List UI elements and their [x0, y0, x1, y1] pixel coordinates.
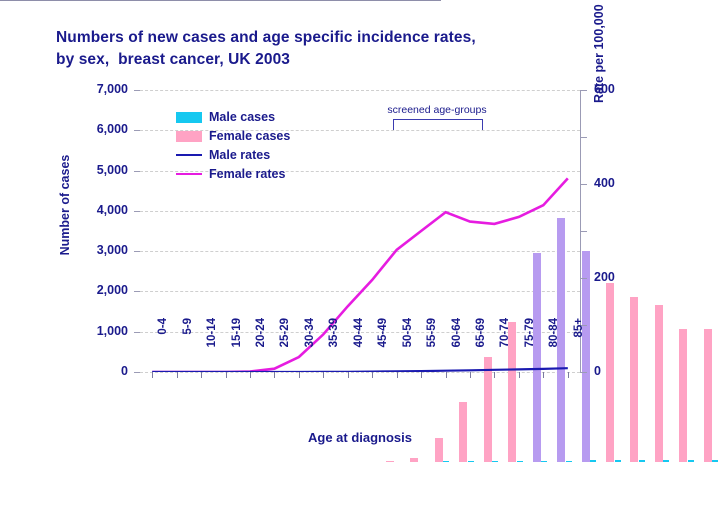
- y-axis-left-tick: [134, 332, 140, 333]
- legend-item-label: Male rates: [209, 148, 270, 162]
- x-axis-tick-label: 70-74: [499, 318, 511, 378]
- x-axis-tick-label: 15-19: [231, 318, 243, 378]
- y-axis-right-minor-tick: [581, 137, 587, 138]
- y-axis-right-tick-label: 0: [594, 364, 654, 378]
- y-axis-left-tick-label: 7,000: [62, 82, 128, 96]
- y-axis-right-tick: [581, 278, 587, 279]
- x-axis-tick-label: 25-29: [279, 318, 291, 378]
- x-axis-tick: [568, 372, 569, 378]
- y-axis-left-tick: [134, 130, 140, 131]
- legend-line-icon: [176, 154, 202, 156]
- y-axis-right-tick: [581, 90, 587, 91]
- x-axis-tick: [421, 372, 422, 378]
- legend-item[interactable]: Female cases: [176, 127, 290, 145]
- x-axis-tick: [348, 372, 349, 378]
- y-axis-left-tick-label: 1,000: [62, 324, 128, 338]
- x-axis-tick-label: 55-59: [426, 318, 438, 378]
- legend-item-label: Male cases: [209, 110, 275, 124]
- y-axis-right-tick-label: 200: [594, 270, 654, 284]
- x-axis-tick: [494, 372, 495, 378]
- y-axis-right-tick-label: 400: [594, 176, 654, 190]
- legend-line-icon: [176, 173, 202, 175]
- x-axis-tick-label: 85+: [573, 318, 585, 378]
- x-axis-tick: [152, 372, 153, 378]
- y-axis-left-tick: [134, 211, 140, 212]
- x-axis-tick-label: 60-64: [451, 318, 463, 378]
- x-axis-tick: [446, 372, 447, 378]
- y-axis-left-tick: [134, 372, 140, 373]
- x-axis-tick: [201, 372, 202, 378]
- legend-item[interactable]: Female rates: [176, 165, 290, 183]
- x-axis-tick: [543, 372, 544, 378]
- x-axis-tick-label: 75-79: [524, 318, 536, 378]
- x-axis-tick-label: 5-9: [182, 318, 194, 378]
- y-axis-left-tick: [134, 251, 140, 252]
- x-axis-tick-label: 20-24: [255, 318, 267, 378]
- x-axis-tick: [226, 372, 227, 378]
- chart-container: Numbers of new cases and age specific in…: [0, 0, 720, 509]
- x-axis-tick: [323, 372, 324, 378]
- legend-item[interactable]: Male rates: [176, 146, 290, 164]
- y-axis-right-title: Rate per 100,000 population: [592, 0, 606, 135]
- x-axis-tick: [250, 372, 251, 378]
- x-axis-tick-label: 30-34: [304, 318, 316, 378]
- chart-legend: Male casesFemale casesMale ratesFemale r…: [176, 108, 290, 184]
- y-axis-right-minor-tick: [581, 231, 587, 232]
- x-axis-tick-label: 0-4: [157, 318, 169, 378]
- legend-item-label: Female rates: [209, 167, 285, 181]
- y-axis-left-tick-label: 0: [62, 364, 128, 378]
- legend-swatch-icon: [176, 131, 202, 142]
- x-axis-tick: [470, 372, 471, 378]
- x-axis-tick-label: 40-44: [353, 318, 365, 378]
- legend-swatch-icon: [176, 112, 202, 123]
- x-axis-tick-label: 50-54: [402, 318, 414, 378]
- y-axis-left-tick: [134, 291, 140, 292]
- legend-item[interactable]: Male cases: [176, 108, 290, 126]
- x-axis-tick: [274, 372, 275, 378]
- y-axis-right-tick: [581, 184, 587, 185]
- x-axis-tick: [372, 372, 373, 378]
- y-axis-left-tick: [134, 171, 140, 172]
- legend-item-label: Female cases: [209, 129, 290, 143]
- y-axis-left-tick: [134, 90, 140, 91]
- x-axis-tick-label: 10-14: [206, 318, 218, 378]
- x-axis-tick-label: 35-39: [328, 318, 340, 378]
- x-axis-tick: [299, 372, 300, 378]
- y-axis-left-title: Number of cases: [58, 120, 72, 290]
- x-axis-title: Age at diagnosis: [140, 430, 580, 445]
- x-axis-tick-label: 80-84: [548, 318, 560, 378]
- screened-age-groups-bracket: [393, 119, 483, 130]
- x-axis-tick-label: 45-49: [377, 318, 389, 378]
- x-axis-tick: [397, 372, 398, 378]
- screened-age-groups-label: screened age-groups: [372, 104, 502, 116]
- x-axis-tick: [519, 372, 520, 378]
- x-axis-tick-label: 65-69: [475, 318, 487, 378]
- x-axis-tick: [177, 372, 178, 378]
